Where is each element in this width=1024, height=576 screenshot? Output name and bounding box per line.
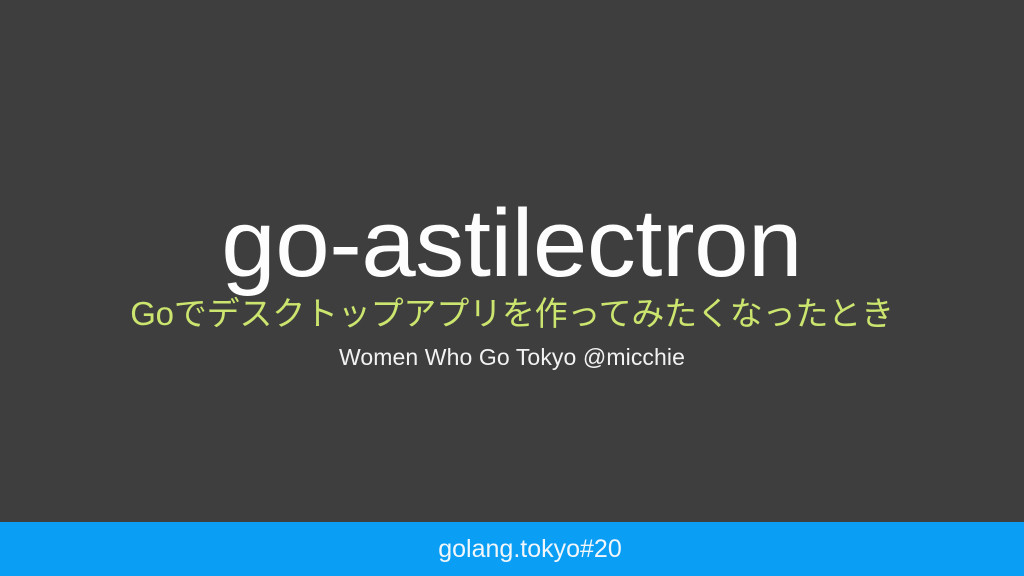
page-title: go-astilectron <box>222 196 803 292</box>
footer-bar: golang.tokyo#20 <box>0 522 1024 576</box>
footer-event-label: golang.tokyo#20 <box>402 535 621 564</box>
presentation-title-slide: go-astilectron Goでデスクトップアプリを作ってみたくなったとき … <box>0 0 1024 576</box>
title-block: go-astilectron Goでデスクトップアプリを作ってみたくなったとき … <box>0 0 1024 522</box>
presenter-credit: Women Who Go Tokyo @micchie <box>339 344 685 372</box>
slide-subtitle: Goでデスクトップアプリを作ってみたくなったとき <box>130 296 894 332</box>
